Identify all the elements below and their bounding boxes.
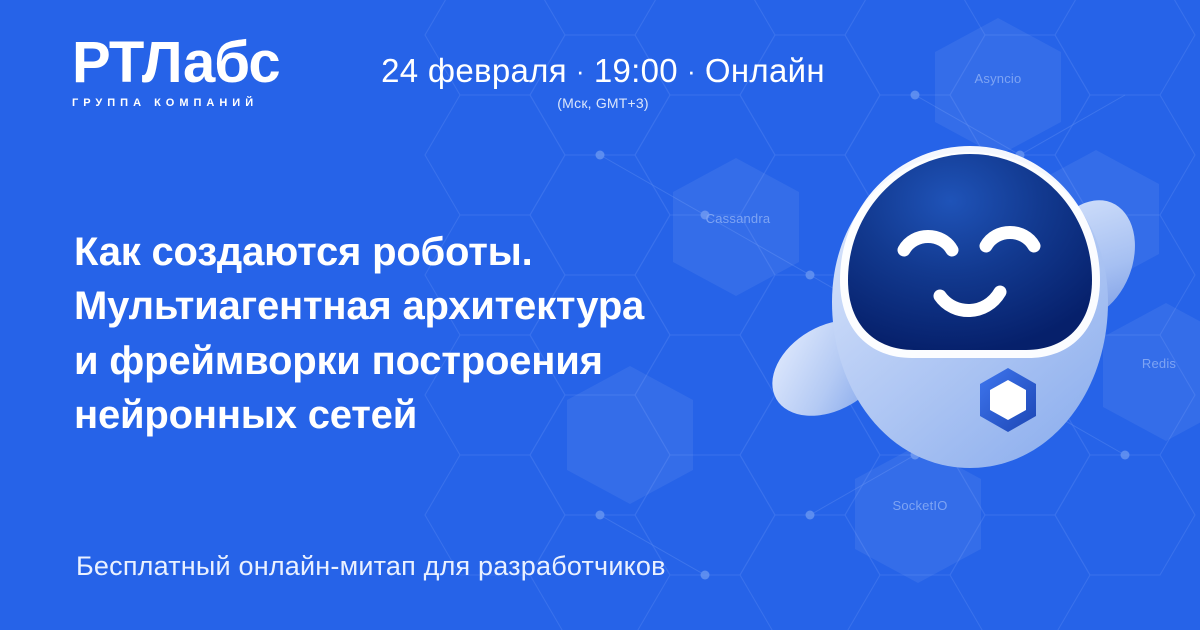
headline-line-3: и фреймворки построения (74, 334, 794, 388)
logo-wordmark: РТЛабс (72, 34, 280, 92)
headline-line-1: Как создаются роботы. (74, 225, 794, 279)
event-banner: Asyncio Cassandra Elastics earch Redis S… (0, 0, 1200, 630)
brand-logo[interactable]: РТЛабс ГРУППА КОМПАНИЙ (72, 34, 280, 109)
event-subtitle: Бесплатный онлайн-митап для разработчико… (76, 551, 666, 582)
event-timezone: (Мск, GMT+3) (368, 95, 838, 111)
separator-dot-1: · (567, 56, 594, 86)
headline-line-2: Мультиагентная архитектура (74, 279, 794, 333)
logo-tagline: ГРУППА КОМПАНИЙ (72, 98, 280, 109)
separator-dot-2: · (678, 56, 705, 86)
event-time: 19:00 (594, 52, 678, 89)
event-date: 24 февраля (381, 52, 567, 89)
event-datetime-line: 24 февраля·19:00·Онлайн (368, 53, 838, 89)
event-format: Онлайн (705, 52, 825, 89)
event-datetime-block: 24 февраля·19:00·Онлайн (Мск, GMT+3) (368, 53, 838, 111)
robot-mascot (770, 130, 1170, 490)
headline-line-4: нейронных сетей (74, 388, 794, 442)
page-title: Как создаются роботы. Мультиагентная арх… (74, 225, 794, 443)
